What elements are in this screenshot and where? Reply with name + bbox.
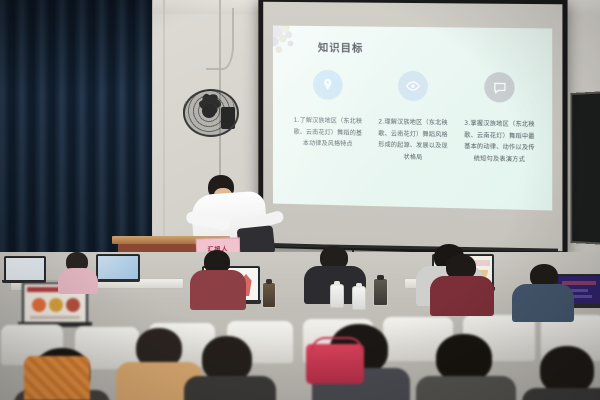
bottle-cap [334, 281, 340, 286]
attendee-body [512, 284, 574, 322]
curtain-shading [0, 0, 152, 268]
slide-column-text: 3.掌握汉族地区（东北秧歌、云南花灯）舞蹈中最基本的动律、动作以及传统短句及表演… [461, 118, 537, 167]
attendee-body [430, 276, 494, 316]
slide-columns: 1.了解汉族地区（东北秧歌、云南花灯）舞蹈的基本动律及风格特点 2.理解汉族地区… [289, 69, 540, 166]
slide-column: 3.掌握汉族地区（东北秧歌、云南花灯）舞蹈中最基本的动律、动作以及传统短句及表演… [459, 72, 540, 167]
projector-screen: 知识目标 1.了解汉族地区（东北秧歌、云南花灯）舞蹈的基本动律及风格特点 [258, 0, 567, 256]
thermos-cap [266, 279, 272, 284]
attendee-body [416, 376, 516, 400]
attendee-body [58, 268, 98, 294]
attendee-patterned-jacket [24, 356, 90, 400]
bottle-cap [356, 283, 362, 288]
wall-fan [183, 85, 243, 137]
attendee-body [522, 388, 600, 400]
audience-area [0, 252, 600, 400]
laptop-screen [4, 256, 46, 282]
speech-bubble-glyph [492, 80, 507, 95]
location-pin-icon [313, 70, 343, 100]
attendee-body [184, 376, 276, 400]
wall-seam-secondary [163, 0, 165, 250]
attendee-head [436, 334, 492, 382]
laptop-base [94, 279, 140, 282]
thermos-cap [377, 275, 384, 280]
fan-grill [183, 89, 235, 133]
attendee-body [190, 270, 246, 310]
eye-glyph [405, 78, 421, 94]
laptop-screen [96, 254, 140, 281]
slide-column-text: 2.理解汉族地区（东北秧歌、云南花灯）舞蹈风格形成的起源、发展以及现状格局 [376, 116, 451, 164]
slide-column-text: 1.了解汉族地区（东北秧歌、云南花灯）舞蹈的基本动律及风格特点 [291, 115, 365, 151]
blackboard [570, 91, 600, 245]
slide-column: 2.理解汉族地区（东北秧歌、云南花灯）舞蹈风格形成的起源、发展以及现状格局 [373, 70, 453, 164]
water-bottle [330, 284, 344, 308]
thermos-cup [262, 282, 276, 308]
floral-decoration-icon [273, 26, 308, 62]
eye-icon [398, 71, 428, 101]
slide-title: 知识目标 [318, 40, 363, 55]
laptop-screen-content [98, 256, 138, 279]
window-curtain [0, 0, 152, 268]
water-bottle [352, 286, 366, 310]
red-backpack [306, 344, 364, 384]
speech-bubble-icon [484, 72, 514, 103]
presentation-slide: 知识目标 1.了解汉族地区（东北秧歌、云南花灯）舞蹈的基本动律及风格特点 [273, 26, 552, 211]
thermos-cup [373, 278, 388, 306]
location-pin-glyph [321, 78, 335, 92]
laptop-screen-content [6, 258, 44, 280]
attendee-head [540, 346, 594, 394]
backpack-strap [311, 337, 364, 351]
slide-column: 1.了解汉族地区（东北秧歌、云南花灯）舞蹈的基本动律及风格特点 [289, 69, 368, 163]
screen-surface: 知识目标 1.了解汉族地区（东北秧歌、云南花灯）舞蹈的基本动律及风格特点 [263, 2, 562, 252]
classroom-photo: 知识目标 1.了解汉族地区（东北秧歌、云南花灯）舞蹈的基本动律及风格特点 [0, 0, 600, 400]
